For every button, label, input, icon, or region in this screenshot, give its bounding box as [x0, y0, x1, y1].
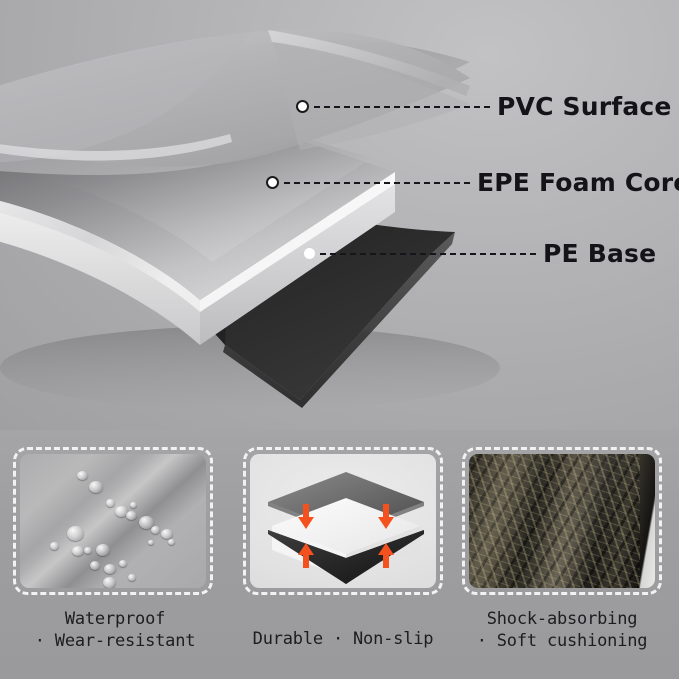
feature-caption-waterproof: Waterproof · Wear-resistant: [13, 608, 213, 653]
callout-marker-dot-pe: [304, 248, 315, 259]
exploded-layer-illustration: [0, 0, 679, 430]
pe-film-sheen: [469, 454, 655, 588]
feature-thumbnail-shock-absorbing: [462, 447, 662, 595]
infographic-canvas: PVC Surface EPE Foam Core PE Base: [0, 0, 679, 679]
callout-pvc-surface: PVC Surface: [296, 94, 672, 119]
water-droplets-on-fabric-icon: [20, 454, 206, 588]
feature-caption-shock-absorbing: Shock-absorbing · Soft cushioning: [462, 608, 662, 653]
callout-dashed-leader-epe: [284, 182, 470, 184]
feature-thumbnail-durable: [243, 447, 443, 595]
feature-caption-durable: Durable · Non-slip: [243, 608, 443, 650]
feature-panels: Waterproof · Wear-resistant: [0, 447, 679, 679]
callout-label-pvc-surface: PVC Surface: [497, 94, 672, 119]
callout-marker-dot-pvc: [296, 100, 309, 113]
callout-dashed-leader-pvc: [314, 106, 490, 108]
feature-durable: Durable · Non-slip: [243, 447, 443, 650]
callout-marker-dot-epe: [266, 176, 279, 189]
callout-label-pe-base: PE Base: [543, 241, 656, 266]
feature-shock-absorbing: Shock-absorbing · Soft cushioning: [462, 447, 662, 653]
feature-thumbnail-waterproof: [13, 447, 213, 595]
callout-label-epe-foam-core: EPE Foam Core: [477, 170, 679, 195]
callout-pe-base: PE Base: [304, 241, 656, 266]
stacked-layers-with-compression-arrows-icon: [250, 454, 436, 588]
black-pe-film-texture-icon: [469, 454, 655, 588]
callout-epe-foam-core: EPE Foam Core: [266, 170, 679, 195]
callout-dashed-leader-pe: [320, 253, 536, 255]
feature-waterproof: Waterproof · Wear-resistant: [13, 447, 213, 653]
